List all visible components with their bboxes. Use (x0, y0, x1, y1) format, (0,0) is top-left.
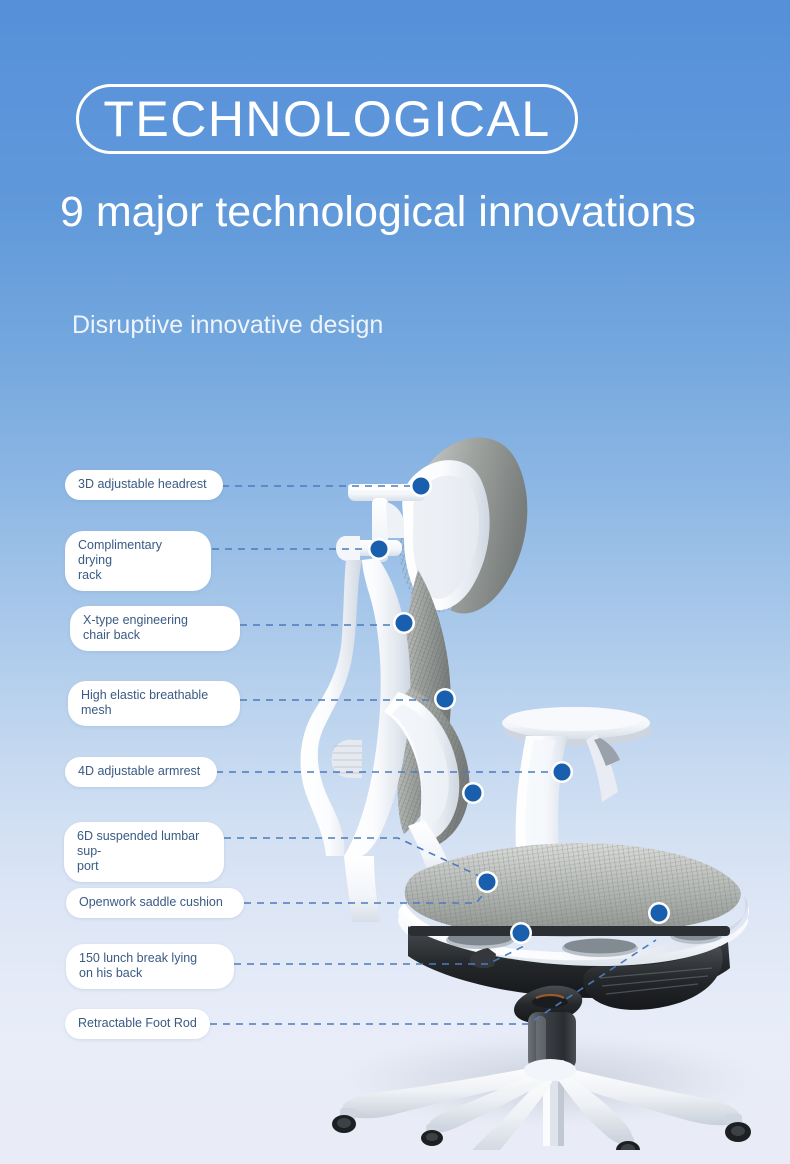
caster-wheel (332, 1108, 356, 1133)
callout-lying-back[interactable]: 150 lunch break lying on his back (66, 944, 234, 989)
callout-foot-rod[interactable]: Retractable Foot Rod (65, 1009, 210, 1039)
callout-headrest[interactable]: 3D adjustable headrest (65, 470, 223, 500)
caster-wheel (725, 1114, 751, 1142)
callout-x-type-back[interactable]: X-type engineering chair back (70, 606, 240, 651)
callout-breathable-mesh[interactable]: High elastic breathable mesh (68, 681, 240, 726)
office-chair-illustration (300, 420, 770, 1150)
page-subtitle: Disruptive innovative design (72, 310, 672, 340)
callout-armrest[interactable]: 4D adjustable armrest (65, 757, 217, 787)
callout-saddle-cushion[interactable]: Openwork saddle cushion (66, 888, 244, 918)
callout-lumbar-support[interactable]: 6D suspended lumbar sup- port (64, 822, 224, 882)
infographic-page: TECHNOLOGICAL 9 major technological inno… (0, 0, 790, 1164)
callout-drying-rack[interactable]: Complimentary drying rack (65, 531, 211, 591)
page-title: 9 major technological innovations (60, 188, 760, 237)
title-badge: TECHNOLOGICAL (76, 84, 578, 154)
title-badge-label: TECHNOLOGICAL (79, 87, 575, 151)
